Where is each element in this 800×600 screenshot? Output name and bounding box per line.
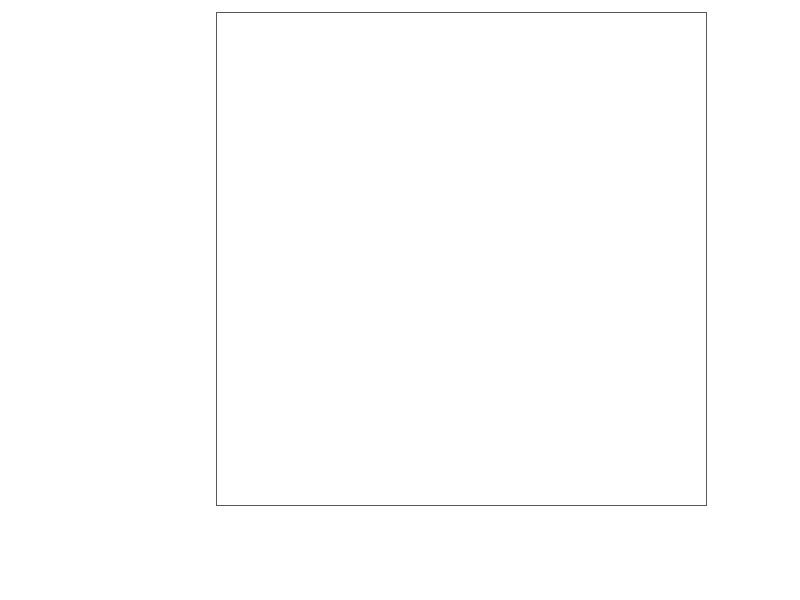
x-axis	[0, 506, 800, 600]
flow-cytometry-dot-plot	[0, 0, 800, 600]
plot-area[interactable]	[216, 12, 707, 506]
scatter-point-cloud	[217, 13, 707, 506]
